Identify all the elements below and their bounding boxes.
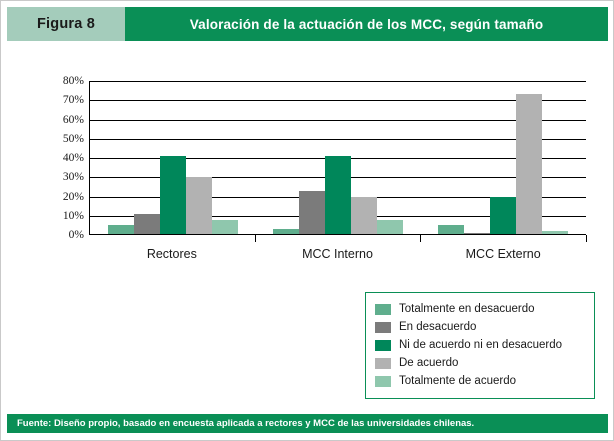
legend-swatch-icon bbox=[375, 358, 391, 369]
y-axis-tick-label: 10% bbox=[63, 210, 84, 222]
bar-group bbox=[438, 81, 568, 235]
figure-number-label: Figura 8 bbox=[7, 7, 125, 41]
legend-item[interactable]: De acuerdo bbox=[375, 354, 585, 372]
legend-item[interactable]: En desacuerdo bbox=[375, 318, 585, 336]
legend-swatch-icon bbox=[375, 376, 391, 387]
bar[interactable] bbox=[516, 94, 542, 235]
bar-group bbox=[108, 81, 238, 235]
chart-legend: Totalmente en desacuerdoEn desacuerdoNi … bbox=[365, 292, 595, 399]
bar[interactable] bbox=[186, 177, 212, 235]
figure-container: Figura 8 Valoración de la actuación de l… bbox=[0, 0, 614, 441]
legend-item[interactable]: Totalmente de acuerdo bbox=[375, 372, 585, 390]
legend-item[interactable]: Totalmente en desacuerdo bbox=[375, 300, 585, 318]
bar[interactable] bbox=[212, 220, 238, 235]
x-axis-category-label: Rectores bbox=[147, 247, 197, 261]
bar[interactable] bbox=[299, 191, 325, 235]
bar[interactable] bbox=[325, 156, 351, 235]
bar[interactable] bbox=[351, 197, 377, 236]
bar-group bbox=[273, 81, 403, 235]
y-axis-tick-label: 40% bbox=[63, 152, 84, 164]
bar[interactable] bbox=[160, 156, 186, 235]
legend-item-label: En desacuerdo bbox=[399, 321, 476, 333]
y-axis-tick-label: 80% bbox=[63, 75, 84, 87]
plot-area bbox=[89, 81, 586, 235]
legend-swatch-icon bbox=[375, 304, 391, 315]
legend-item-label: Totalmente de acuerdo bbox=[399, 375, 516, 387]
figure-header: Figura 8 Valoración de la actuación de l… bbox=[7, 7, 608, 41]
bar-groups-layer bbox=[90, 81, 586, 235]
y-axis-tick-label: 50% bbox=[63, 133, 84, 145]
x-axis-category-label: MCC Interno bbox=[302, 247, 373, 261]
plot-wrapper: 80%70%60%50%40%30%20%10%0% RectoresMCC I… bbox=[89, 81, 586, 235]
legend-item[interactable]: Ni de acuerdo ni en desacuerdo bbox=[375, 336, 585, 354]
x-axis-line bbox=[90, 234, 586, 235]
y-axis-tick-label: 70% bbox=[63, 94, 84, 106]
bar[interactable] bbox=[490, 197, 516, 236]
bar[interactable] bbox=[377, 220, 403, 235]
y-axis-tick-label: 30% bbox=[63, 171, 84, 183]
x-axis-tick bbox=[586, 235, 587, 242]
legend-item-label: De acuerdo bbox=[399, 357, 458, 369]
legend-item-label: Ni de acuerdo ni en desacuerdo bbox=[399, 339, 562, 351]
x-axis-tick bbox=[420, 235, 421, 242]
legend-item-label: Totalmente en desacuerdo bbox=[399, 303, 535, 315]
chart-canvas: 80%70%60%50%40%30%20%10%0% RectoresMCC I… bbox=[1, 53, 614, 393]
y-axis-tick-label: 0% bbox=[69, 229, 84, 241]
figure-title: Valoración de la actuación de los MCC, s… bbox=[125, 7, 608, 41]
legend-swatch-icon bbox=[375, 340, 391, 351]
x-axis-tick bbox=[255, 235, 256, 242]
y-axis-tick-label: 60% bbox=[63, 114, 84, 126]
figure-footer: Fuente: Diseño propio, basado en encuest… bbox=[7, 414, 608, 433]
legend-swatch-icon bbox=[375, 322, 391, 333]
x-axis-category-label: MCC Externo bbox=[466, 247, 541, 261]
bar[interactable] bbox=[134, 214, 160, 235]
figure-source-text: Fuente: Diseño propio, basado en encuest… bbox=[7, 418, 474, 429]
y-axis-tick-label: 20% bbox=[63, 191, 84, 203]
